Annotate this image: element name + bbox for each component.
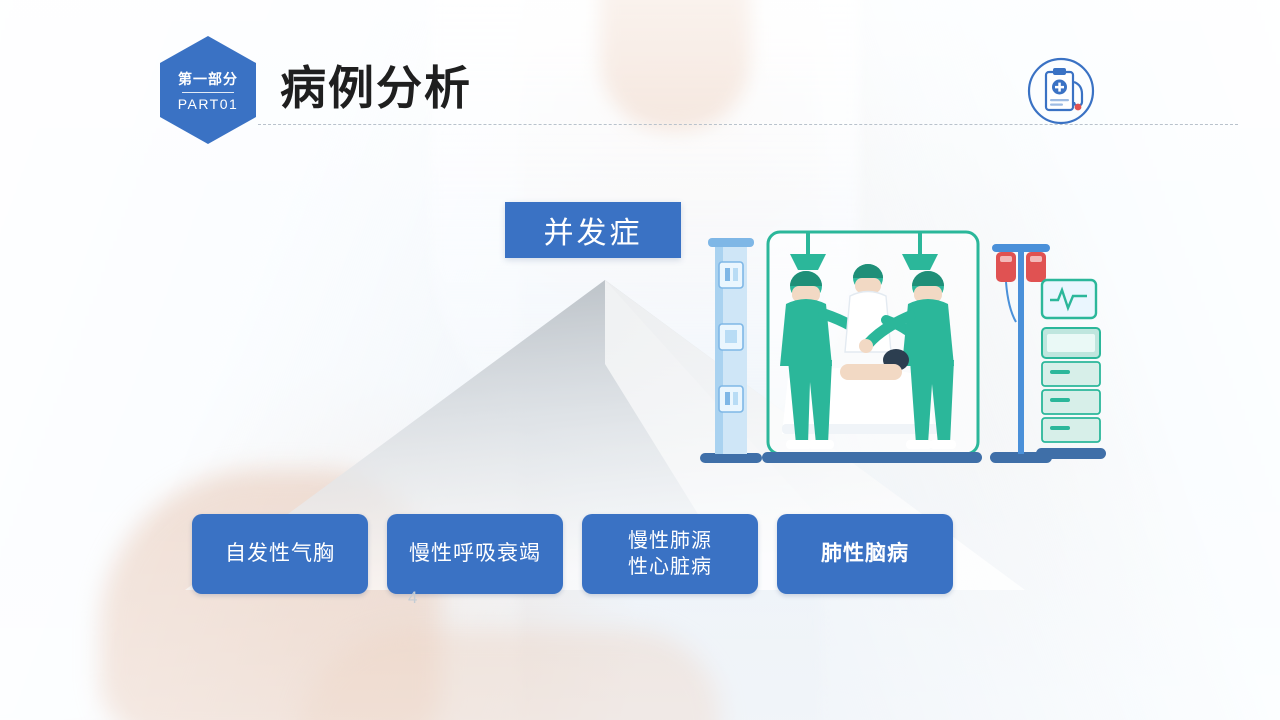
section-badge-top-label: 第一部分 — [178, 69, 238, 89]
slide-root: 第一部分 PART01 病例分析 — [0, 0, 1280, 720]
card-label: 慢性肺源 性心脏病 — [628, 528, 712, 580]
card-spontaneous-pneumothorax[interactable]: 自发性气胸 — [192, 514, 368, 594]
card-label: 自发性气胸 — [225, 541, 335, 567]
section-badge-divider — [182, 92, 234, 93]
iv-shelf-unit — [700, 238, 762, 463]
complication-cards: 自发性气胸 慢性呼吸衰竭 慢性肺源 性心脏病 肺性脑病 — [192, 514, 982, 596]
monitor-cart — [1036, 280, 1106, 459]
page-number: 4 — [408, 588, 417, 608]
surgery-team-illustration — [690, 228, 1110, 476]
card-chronic-respiratory-failure[interactable]: 慢性呼吸衰竭 — [387, 514, 563, 594]
page-title: 病例分析 — [280, 52, 472, 118]
card-label-line1: 慢性肺源 — [628, 530, 712, 552]
clipboard-medical-icon — [1026, 56, 1096, 126]
section-badge-bottom-label: PART01 — [178, 96, 239, 112]
card-pulmonary-encephalopathy[interactable]: 肺性脑病 — [777, 514, 953, 594]
card-chronic-cor-pulmonale[interactable]: 慢性肺源 性心脏病 — [582, 514, 758, 594]
card-label: 肺性脑病 — [821, 541, 909, 567]
banner-complications: 并发症 — [505, 202, 681, 258]
banner-label: 并发症 — [544, 208, 643, 252]
card-label: 慢性呼吸衰竭 — [409, 541, 541, 567]
card-label-line2: 性心脏病 — [628, 556, 712, 578]
